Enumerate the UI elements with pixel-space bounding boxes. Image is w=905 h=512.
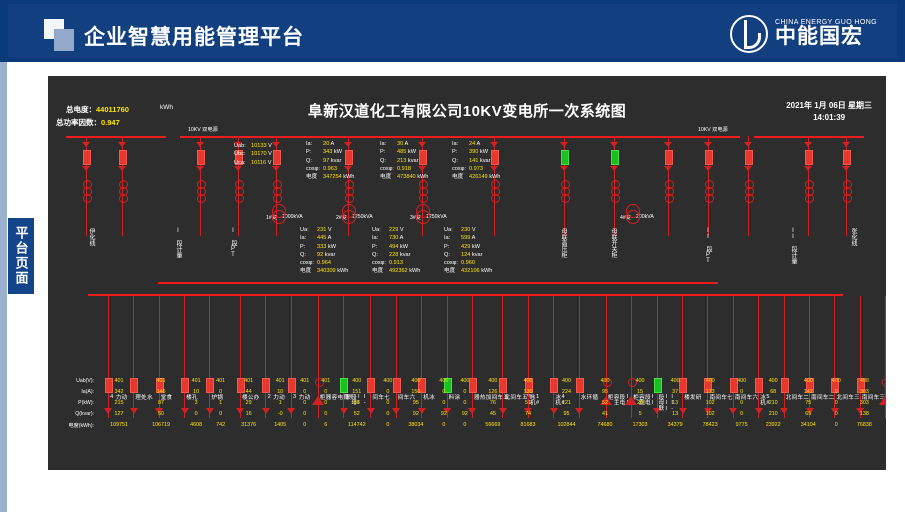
table-cell: 215 xyxy=(98,398,140,409)
capacitor-switch-icon[interactable] xyxy=(882,378,886,387)
hv-bus-right xyxy=(754,136,864,138)
brand-chinese-name: 中能国宏 xyxy=(775,26,877,48)
ct-icon xyxy=(273,194,282,203)
sld-diagram-panel: 总电度：44011760 kWh 总功率因数：0.947 阜新汉道化工有限公司1… xyxy=(48,76,886,470)
table-cell: 109751 xyxy=(98,419,140,431)
table-cell: 121 xyxy=(545,398,587,409)
table-cell: 102 xyxy=(693,398,728,409)
table-cell: 0 xyxy=(294,419,315,431)
equipment-label: I 段PT xyxy=(228,228,236,258)
table-cell: 400 xyxy=(433,376,454,387)
meter-row: 电度347254 kWh xyxy=(306,173,354,181)
meter-row: Ia:730 A xyxy=(372,234,420,242)
meter-row: P:485 kW xyxy=(380,148,428,156)
breaker-closed-icon[interactable] xyxy=(843,150,851,165)
table-cell: 17303 xyxy=(623,419,658,431)
ct-icon xyxy=(491,194,500,203)
ct-icon xyxy=(745,194,754,203)
voltage-row: Uca:10116 V xyxy=(234,159,272,167)
equipment-label: II 段PT xyxy=(703,228,711,264)
table-cell: 75 xyxy=(791,398,826,409)
disconnector-icon[interactable] xyxy=(842,166,850,171)
table-cell: 1 xyxy=(266,398,294,409)
disconnector-icon[interactable] xyxy=(610,142,618,147)
ct-icon xyxy=(197,194,206,203)
breaker-closed-icon[interactable] xyxy=(705,150,713,165)
disconnector-icon[interactable] xyxy=(560,166,568,171)
meter-row: P:494 kW xyxy=(372,243,420,251)
table-cell: 210 xyxy=(756,398,791,409)
table-cell: 224 xyxy=(545,387,587,398)
meter-row: Ia:30 A xyxy=(380,140,428,148)
ct-icon xyxy=(665,194,674,203)
table-cell: 0 xyxy=(377,419,398,431)
table-cell: 44 xyxy=(231,387,266,398)
ct-icon xyxy=(705,194,714,203)
disconnector-icon[interactable] xyxy=(842,142,850,147)
table-cell: 173 xyxy=(693,387,728,398)
table-cell: 0 xyxy=(433,419,454,431)
measurement-table-grid: Uab(V):401401401401401401401401400400400… xyxy=(52,376,882,431)
hv-meter-block-3: Ia:24 A P:390 kW Q:141 kvar cosφ:0.973 电… xyxy=(452,140,500,181)
transformer-icon-secondary xyxy=(416,210,430,224)
clock-display: 2021年 1月 06日 星期三 14:01:39 xyxy=(786,100,872,123)
breaker-open-icon[interactable] xyxy=(561,150,569,165)
table-cell: 0 xyxy=(315,408,336,419)
table-cell: 10 xyxy=(182,387,210,398)
meter-row: cosφ:0.973 xyxy=(452,165,500,173)
disconnector-icon[interactable] xyxy=(118,142,126,147)
table-cell: 146 xyxy=(140,387,182,398)
table-cell: 87 xyxy=(140,398,182,409)
breaker-closed-icon[interactable] xyxy=(83,150,91,165)
lv-meter-block-3: Ua:230 V Ia:599 A P:429 kW Q:124 kvar co… xyxy=(444,226,492,276)
breaker-closed-icon[interactable] xyxy=(197,150,205,165)
app-header: 企业智慧用能管理平台 CHINA ENERGY GUO HONG 中能国宏 xyxy=(0,0,905,62)
meter-row: cosφ:0.918 xyxy=(380,165,428,173)
disconnector-icon[interactable] xyxy=(804,142,812,147)
table-cell: 1405 xyxy=(266,419,294,431)
table-cell: 114742 xyxy=(336,419,377,431)
table-cell: 0 xyxy=(210,387,231,398)
table-cell: 10 xyxy=(266,387,294,398)
voltage-row: Ubc:10170 V xyxy=(234,150,272,158)
disconnector-icon[interactable] xyxy=(82,142,90,147)
table-cell: 20 xyxy=(623,398,658,409)
meter-row: cosφ:0.963 xyxy=(306,165,354,173)
table-cell: 102 xyxy=(693,408,728,419)
table-cell: 31376 xyxy=(231,419,266,431)
table-cell: 0 xyxy=(294,398,315,409)
sidebar-item-platform-page[interactable]: 平台页面 xyxy=(8,218,34,294)
table-cell: 400 xyxy=(588,376,623,387)
table-cell: 401 xyxy=(266,376,294,387)
table-cell: 400 xyxy=(826,376,847,387)
meter-row: Ia:445 A xyxy=(300,234,348,242)
table-cell: 37 xyxy=(658,387,693,398)
meter-row: 电度473840 kWh xyxy=(380,173,428,181)
table-cell: 76 xyxy=(475,398,510,409)
sidebar-strip xyxy=(0,62,7,512)
table-cell: 0 xyxy=(433,398,454,409)
disconnector-icon[interactable] xyxy=(704,166,712,171)
table-cell: 92 xyxy=(398,408,433,419)
meter-row: Q:141 kvar xyxy=(452,157,500,165)
table-cell: 0 xyxy=(294,387,315,398)
breaker-closed-icon[interactable] xyxy=(119,150,127,165)
disconnector-icon[interactable] xyxy=(664,166,672,171)
header-inner-bar: 企业智慧用能管理平台 CHINA ENERGY GUO HONG 中能国宏 xyxy=(8,4,897,58)
table-cell: 34379 xyxy=(658,419,693,431)
table-cell: 401 xyxy=(294,376,315,387)
table-row: P(kW):2158731291008809500765112152201310… xyxy=(52,398,882,409)
meter-row: Ia:20 A xyxy=(306,140,354,148)
disconnector-icon[interactable] xyxy=(196,142,204,147)
table-cell: 41 xyxy=(588,408,623,419)
disconnector-icon[interactable] xyxy=(744,142,752,147)
table-cell: 29 xyxy=(231,398,266,409)
table-cell: 0 xyxy=(377,408,398,419)
table-cell: 400 xyxy=(545,376,587,387)
table-cell: 400 xyxy=(693,376,728,387)
transformer-icon-secondary xyxy=(626,210,640,224)
table-cell: 0 xyxy=(377,398,398,409)
transformer-icon-secondary xyxy=(272,210,286,224)
table-cell: 130 xyxy=(510,387,545,398)
disconnector-icon[interactable] xyxy=(82,166,90,171)
meter-row: Q:228 kvar xyxy=(372,251,420,259)
table-cell: 400 xyxy=(475,376,510,387)
table-cell: 9775 xyxy=(728,419,756,431)
table-cell: 400 xyxy=(756,376,791,387)
equipment-label: 母联开关柜 xyxy=(608,228,616,258)
table-row-header: 电度(kWh): xyxy=(52,419,98,431)
table-cell: 106719 xyxy=(140,419,182,431)
voltage-row: Uab:10133 V xyxy=(234,142,272,150)
table-cell: 151 xyxy=(336,387,377,398)
lv-bus-main xyxy=(88,294,843,296)
table-cell: 52 xyxy=(336,408,377,419)
meter-row: Ua:229 V xyxy=(372,226,420,234)
table-cell: 45 xyxy=(475,408,510,419)
table-cell: 68 xyxy=(756,387,791,398)
equipment-label: I 段计量 xyxy=(173,228,181,258)
table-cell: 0 xyxy=(210,408,231,419)
meter-row: cosφ:0.964 xyxy=(300,259,348,267)
disconnector-icon[interactable] xyxy=(610,166,618,171)
meter-row: 电度426149 kWh xyxy=(452,173,500,181)
table-cell: 400 xyxy=(623,376,658,387)
ct-icon xyxy=(611,194,620,203)
meter-row: cosφ:0.913 xyxy=(372,259,420,267)
table-cell: 400 xyxy=(336,376,377,387)
incoming-right-label: 10KV 双电源 xyxy=(698,126,728,133)
table-cell: 0 xyxy=(826,419,847,431)
measurement-table: Uab(V):401401401401401401401401400400400… xyxy=(52,376,882,431)
table-cell: 3 xyxy=(182,398,210,409)
ct-icon xyxy=(345,194,354,203)
lv-meter-block-1: Ua:231 V Ia:445 A P:333 kW Q:92 kvar cos… xyxy=(300,226,348,276)
brand-logo: CHINA ENERGY GUO HONG 中能国宏 xyxy=(730,14,877,54)
hv-meter-block-1: Ia:20 A P:343 kW Q:97 kvar cosφ:0.963 电度… xyxy=(306,140,354,181)
disconnector-icon[interactable] xyxy=(804,166,812,171)
table-cell: 742 xyxy=(210,419,231,431)
lv-bus-upper xyxy=(158,282,718,284)
meter-row: 电度340309 kWh xyxy=(300,267,348,275)
table-cell: 1 xyxy=(210,398,231,409)
table-cell: 400 xyxy=(658,376,693,387)
table-cell: 401 xyxy=(315,376,336,387)
ct-icon xyxy=(561,194,570,203)
table-cell: 52 xyxy=(588,398,623,409)
table-row-header: Ia(A): xyxy=(52,387,98,398)
clock-time: 14:01:39 xyxy=(786,112,872,124)
hv-bus-left xyxy=(66,136,166,138)
meter-row: P:429 kW xyxy=(444,243,492,251)
table-cell: 303 xyxy=(847,387,882,398)
disconnector-icon[interactable] xyxy=(118,166,126,171)
table-cell: 142 xyxy=(791,387,826,398)
meter-row: Q:124 kvar xyxy=(444,251,492,259)
table-cell: 13 xyxy=(658,398,693,409)
table-cell: 0 xyxy=(826,387,847,398)
table-cell: 401 xyxy=(182,376,210,387)
table-cell: 88 xyxy=(336,398,377,409)
table-cell: 303 xyxy=(847,398,882,409)
table-cell: 95 xyxy=(398,398,433,409)
meter-row: P:333 kW xyxy=(300,243,348,251)
equipment-label: 母联高压柜 xyxy=(558,228,566,258)
meter-row: Ia:24 A xyxy=(452,140,500,148)
table-cell: -0 xyxy=(266,408,294,419)
breaker-open-icon[interactable] xyxy=(611,150,619,165)
ct-icon xyxy=(805,194,814,203)
hv-meter-block-2: Ia:30 A P:485 kW Q:213 kvar cosφ:0.918 电… xyxy=(380,140,428,181)
table-cell: 74680 xyxy=(588,419,623,431)
table-cell: 401 xyxy=(210,376,231,387)
diagram-title: 阜新汉道化工有限公司10KV变电所一次系统图 xyxy=(48,100,886,121)
table-row: 电度(kWh):10975110671946087423137614050611… xyxy=(52,419,882,431)
breaker-closed-icon[interactable] xyxy=(665,150,673,165)
table-cell: 0 xyxy=(826,398,847,409)
table-row-header: P(kW): xyxy=(52,398,98,409)
table-cell: 92 xyxy=(454,408,475,419)
table-row-header: Uab(V): xyxy=(52,376,98,387)
disconnector-icon[interactable] xyxy=(664,142,672,147)
table-cell: 150 xyxy=(398,387,433,398)
table-cell: 138 xyxy=(847,408,882,419)
table-cell: 95 xyxy=(588,387,623,398)
table-cell: 81683 xyxy=(510,419,545,431)
table-cell: 51 xyxy=(510,398,545,409)
table-row: Ia(A):3421461004410001510150001261302249… xyxy=(52,387,882,398)
table-cell: 400 xyxy=(728,376,756,387)
disconnector-icon[interactable] xyxy=(196,166,204,171)
meter-row: cosφ:0.960 xyxy=(444,259,492,267)
breaker-closed-icon[interactable] xyxy=(273,150,281,165)
table-cell: 400 xyxy=(454,376,475,387)
table-cell: 210 xyxy=(756,408,791,419)
table-cell: 0 xyxy=(454,419,475,431)
table-cell: 38034 xyxy=(398,419,433,431)
meter-row: Q:92 kvar xyxy=(300,251,348,259)
ct-icon xyxy=(119,194,128,203)
table-cell: 50 xyxy=(140,408,182,419)
table-cell: 401 xyxy=(231,376,266,387)
table-cell: 127 xyxy=(98,408,140,419)
table-cell: 56669 xyxy=(475,419,510,431)
table-cell: 400 xyxy=(847,376,882,387)
table-cell: 92 xyxy=(433,408,454,419)
meter-row: Ia:599 A xyxy=(444,234,492,242)
company-mark-icon xyxy=(730,15,768,53)
meter-row: Q:213 kvar xyxy=(380,157,428,165)
disconnector-icon[interactable] xyxy=(704,142,712,147)
page-title: 企业智慧用能管理平台 xyxy=(84,21,304,51)
table-cell: 0 xyxy=(454,398,475,409)
table-cell: 0 xyxy=(728,387,756,398)
table-cell: 76838 xyxy=(847,419,882,431)
table-cell: 0 xyxy=(377,387,398,398)
meter-row: P:343 kW xyxy=(306,148,354,156)
voltage-measurement-block: Uab:10133 V Ubc:10170 V Uca:10116 V xyxy=(234,142,272,167)
ct-icon xyxy=(235,194,244,203)
table-cell: 0 xyxy=(433,387,454,398)
table-cell: 74 xyxy=(510,408,545,419)
ct-icon xyxy=(419,194,428,203)
table-cell: 5 xyxy=(623,408,658,419)
equipment-label: 张化线 xyxy=(848,228,856,246)
meter-row: 电度432106 kWh xyxy=(444,267,492,275)
table-cell: 401 xyxy=(140,376,182,387)
table-cell: 400 xyxy=(791,376,826,387)
table-cell: 400 xyxy=(510,376,545,387)
table-cell: 0 xyxy=(826,408,847,419)
table-cell: 0 xyxy=(454,387,475,398)
feeder-label: III段电容主柜 xyxy=(885,394,886,412)
table-cell: 0 xyxy=(182,408,210,419)
table-cell: 95 xyxy=(545,408,587,419)
table-cell: 6 xyxy=(315,419,336,431)
meter-row: 电度492362 kWh xyxy=(372,267,420,275)
square-logo-icon-shadow xyxy=(54,29,74,51)
table-cell: 400 xyxy=(398,376,433,387)
table-cell: 15 xyxy=(623,387,658,398)
table-cell: 13 xyxy=(658,408,693,419)
table-row-header: Q(kvar): xyxy=(52,408,98,419)
meter-row: Q:97 kvar xyxy=(306,157,354,165)
equipment-label: 伊化线 xyxy=(86,228,94,246)
clock-date: 2021年 1月 06日 星期三 xyxy=(786,100,872,112)
meter-row: P:390 kW xyxy=(452,148,500,156)
transformer-icon-secondary xyxy=(342,210,356,224)
table-row: Q(kvar):127500016-0005209292924574954151… xyxy=(52,408,882,419)
table-cell: 0 xyxy=(728,398,756,409)
table-cell: 78423 xyxy=(693,419,728,431)
table-cell: 400 xyxy=(377,376,398,387)
breaker-closed-icon[interactable] xyxy=(745,150,753,165)
table-cell: 65 xyxy=(791,408,826,419)
table-cell: 0 xyxy=(728,408,756,419)
table-cell: 4608 xyxy=(182,419,210,431)
hv-bus-main xyxy=(180,136,740,138)
ct-icon xyxy=(83,194,92,203)
disconnector-icon[interactable] xyxy=(272,142,280,147)
table-cell: 23922 xyxy=(756,419,791,431)
table-cell: 34104 xyxy=(791,419,826,431)
table-cell: 401 xyxy=(98,376,140,387)
breaker-closed-icon[interactable] xyxy=(805,150,813,165)
disconnector-icon[interactable] xyxy=(560,142,568,147)
meter-row: Ua:231 V xyxy=(300,226,348,234)
incoming-left-label: 10KV 双电源 xyxy=(188,126,218,133)
table-row: Uab(V):401401401401401401401401400400400… xyxy=(52,376,882,387)
table-cell: 126 xyxy=(475,387,510,398)
table-cell: 16 xyxy=(231,408,266,419)
table-cell: 102844 xyxy=(545,419,587,431)
table-cell: 0 xyxy=(315,398,336,409)
table-cell: 0 xyxy=(315,387,336,398)
disconnector-icon[interactable] xyxy=(744,166,752,171)
equipment-label: II 段计量 xyxy=(788,228,796,264)
table-cell: 0 xyxy=(294,408,315,419)
disconnector-icon[interactable] xyxy=(272,166,280,171)
meter-row: Ua:230 V xyxy=(444,226,492,234)
ct-icon xyxy=(843,194,852,203)
table-cell: 342 xyxy=(98,387,140,398)
lv-meter-block-2: Ua:229 V Ia:730 A P:494 kW Q:228 kvar co… xyxy=(372,226,420,276)
